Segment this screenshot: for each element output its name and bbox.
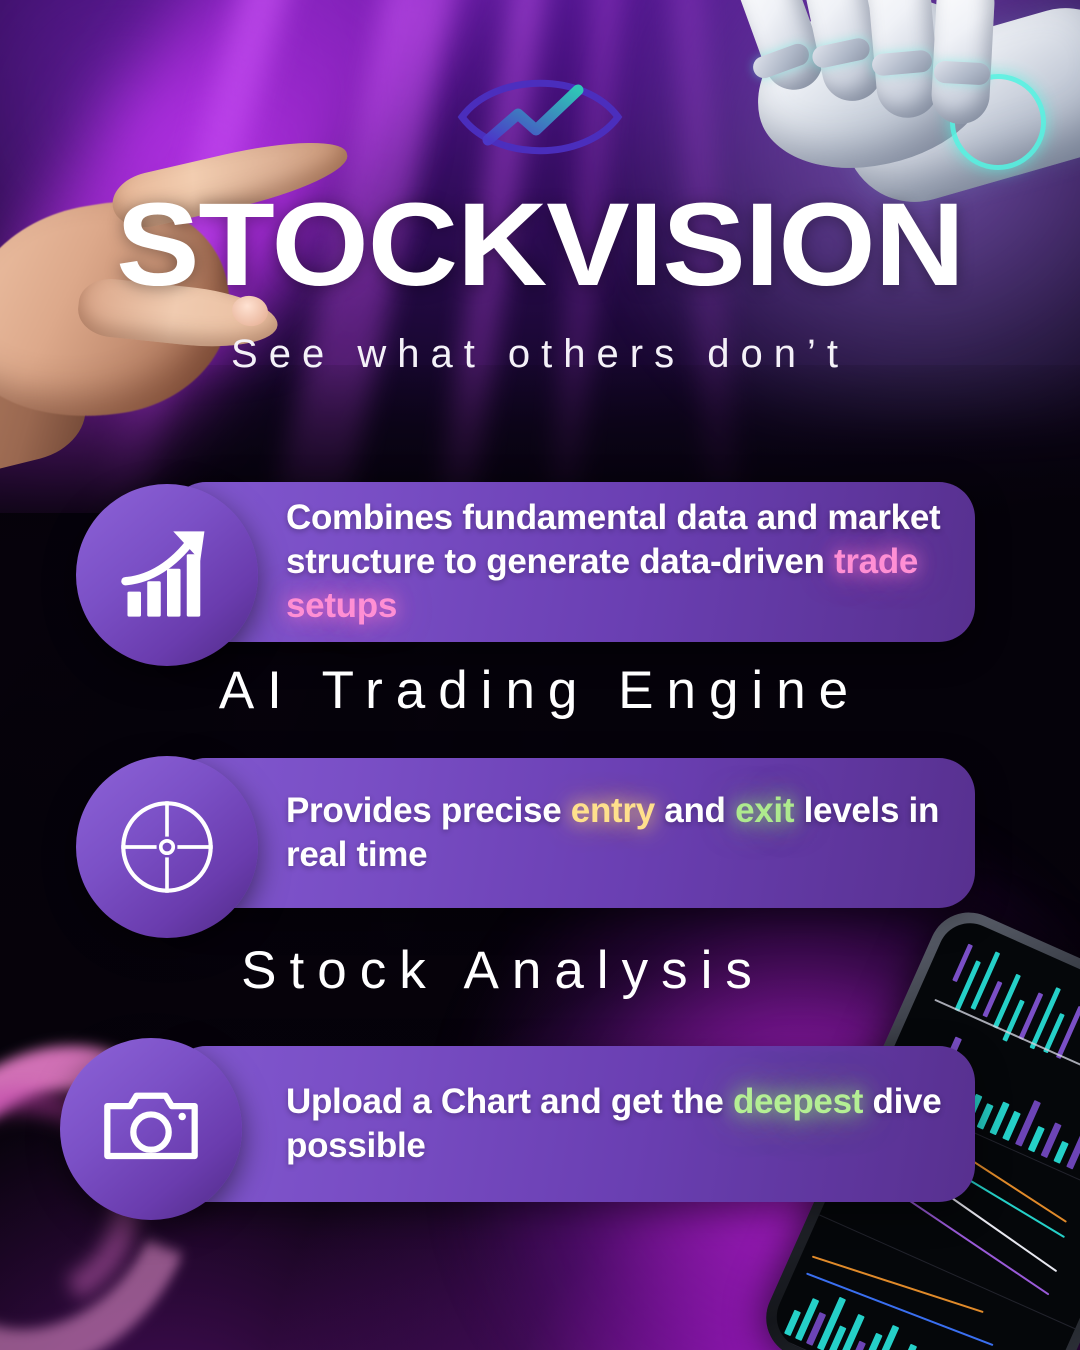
eye-trendline-logo bbox=[450, 62, 630, 172]
feature-2-part-0: Provides precise bbox=[286, 791, 571, 830]
feature-card-2-text: Provides precise entry and exit levels i… bbox=[170, 789, 975, 877]
feature-2-part-2: and bbox=[655, 791, 735, 830]
feature-card-1[interactable]: Combines fundamental data and market str… bbox=[170, 482, 975, 642]
bar-chart-growth-icon bbox=[76, 484, 258, 666]
page-title: STOCKVISION bbox=[0, 186, 1080, 304]
feature-card-3[interactable]: Upload a Chart and get the deepest dive … bbox=[170, 1046, 975, 1202]
crosshair-target-icon bbox=[76, 756, 258, 938]
section-label-ai-trading-engine: AI Trading Engine bbox=[0, 660, 1080, 721]
poster-canvas: STOCKVISION See what others don’t Combin… bbox=[0, 0, 1080, 1350]
feature-3-part-0: Upload a Chart and get the bbox=[286, 1082, 733, 1121]
feature-2-highlight-entry: entry bbox=[571, 791, 655, 830]
section-label-stock-analysis: Stock Analysis bbox=[0, 940, 1080, 1001]
camera-icon bbox=[60, 1038, 242, 1220]
robot-knuckle-4 bbox=[933, 61, 990, 86]
brand-tagline: See what others don’t bbox=[0, 332, 1080, 377]
feature-card-1-text: Combines fundamental data and market str… bbox=[170, 496, 975, 627]
feature-card-3-text: Upload a Chart and get the deepest dive … bbox=[170, 1080, 975, 1168]
feature-card-2[interactable]: Provides precise entry and exit levels i… bbox=[170, 758, 975, 908]
feature-2-highlight-exit: exit bbox=[735, 791, 794, 830]
feature-3-highlight-deepest: deepest bbox=[733, 1082, 863, 1121]
